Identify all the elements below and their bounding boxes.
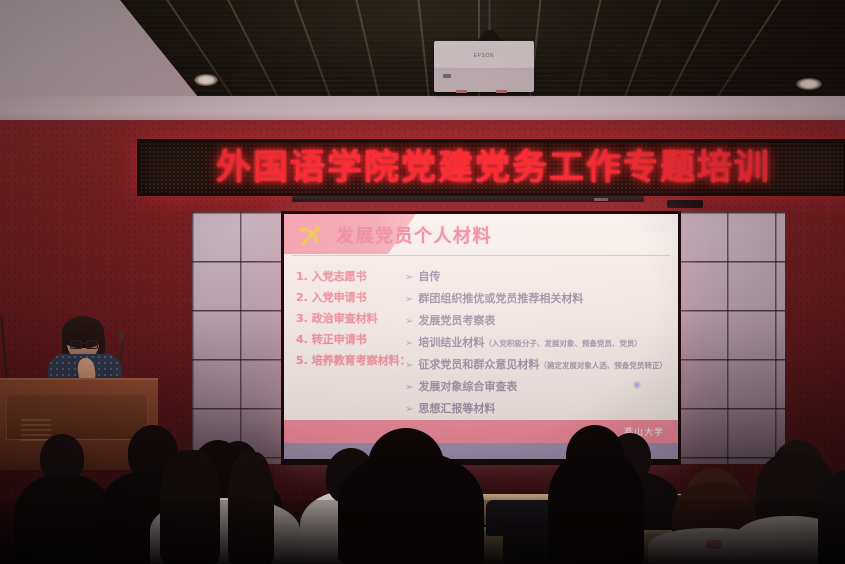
hammer-and-sickle-icon xyxy=(296,220,325,249)
arrow-bullet-icon: ➢ xyxy=(405,316,413,327)
arrow-bullet-icon: ➢ xyxy=(405,272,413,283)
ceiling-downlight xyxy=(796,78,822,90)
slide-right-item: ➢自传 xyxy=(405,266,675,288)
glasses-lens xyxy=(86,340,98,349)
slide-right-item-text: 群团组织推优或党员推荐相关材料 xyxy=(418,292,583,305)
arrow-bullet-icon: ➢ xyxy=(405,404,413,415)
slide-right-item-text: 发展党员考察表 xyxy=(418,314,495,327)
projection-screen: 发展党员个人材料 1. 入党志愿书 2. 入党申请书 3. 政治审查材料 4. … xyxy=(281,211,681,465)
wall-panel-left xyxy=(192,212,284,464)
speaker-glasses xyxy=(70,340,96,347)
slide-right-item-note: （确定发展对象人选、预备党员转正） xyxy=(539,361,667,370)
slide-right-column: ➢自传 ➢群团组织推优或党员推荐相关材料 ➢发展党员考察表 ➢培训结业材料（入党… xyxy=(405,266,675,420)
slide-right-item-text: 征求党员和群众意见材料 xyxy=(418,358,539,371)
slide-right-item-text: 发展对象综合审查表 xyxy=(418,380,517,393)
slide-right-item: ➢群团组织推优或党员推荐相关材料 xyxy=(405,288,675,310)
slide-right-item-text: 思想汇报等材料 xyxy=(418,402,495,415)
slide-title-band: 发展党员个人材料 xyxy=(284,214,678,254)
wall-panel-right xyxy=(679,212,785,464)
led-banner: 外国语学院党建党务工作专题培训 xyxy=(137,139,845,196)
slide-right-item-text: 自传 xyxy=(418,270,440,283)
glasses-bridge xyxy=(80,343,86,344)
ceiling-downlight xyxy=(194,74,218,86)
lecture-hall-photo: EPSON 外国语学院党建党务工作专题培训 xyxy=(0,0,845,564)
arrow-bullet-icon: ➢ xyxy=(405,294,413,305)
glasses-lens xyxy=(70,340,82,349)
slide-right-item: ➢思想汇报等材料 xyxy=(405,398,675,420)
screen-surface: 发展党员个人材料 1. 入党志愿书 2. 入党申请书 3. 政治审查材料 4. … xyxy=(284,214,678,459)
slide-right-item: ➢发展党员考察表 xyxy=(405,310,675,332)
microphone-icon xyxy=(119,332,124,341)
slide-title-divider xyxy=(292,255,670,256)
led-banner-text: 外国语学院党建党务工作专题培训 xyxy=(140,142,845,187)
arrow-bullet-icon: ➢ xyxy=(405,360,413,371)
projector-foot xyxy=(496,90,507,93)
projector: EPSON xyxy=(434,41,534,92)
slide-right-item: ➢征求党员和群众意见材料（确定发展对象人选、预备党员转正） xyxy=(405,354,675,376)
floor-shadow xyxy=(0,500,845,564)
arrow-bullet-icon: ➢ xyxy=(405,382,413,393)
arrow-bullet-icon: ➢ xyxy=(405,338,413,349)
projector-brand-label: EPSON xyxy=(434,53,534,59)
screen-rail-nub xyxy=(594,198,608,201)
projector-foot xyxy=(456,90,467,93)
projector-mount xyxy=(487,0,492,34)
panel-grid-lines xyxy=(192,212,284,464)
podium-front-panel xyxy=(6,394,148,440)
podium-emblem xyxy=(21,419,51,441)
slide-right-item: ➢培训结业材料（入党积极分子、发展对象、预备党员、党员） xyxy=(405,332,675,354)
wall-speaker xyxy=(667,200,703,208)
screen-mount-rail xyxy=(292,196,644,202)
presentation-slide: 发展党员个人材料 1. 入党志愿书 2. 入党申请书 3. 政治审查材料 4. … xyxy=(284,214,678,459)
slide-right-item-text: 培训结业材料 xyxy=(418,336,484,349)
projector-lens-icon xyxy=(443,74,451,78)
slide-title: 发展党员个人材料 xyxy=(336,222,492,248)
panel-grid-lines xyxy=(679,212,785,464)
laser-pointer-dot xyxy=(633,381,641,389)
slide-right-item-note: （入党积极分子、发展对象、预备党员、党员） xyxy=(484,339,642,348)
